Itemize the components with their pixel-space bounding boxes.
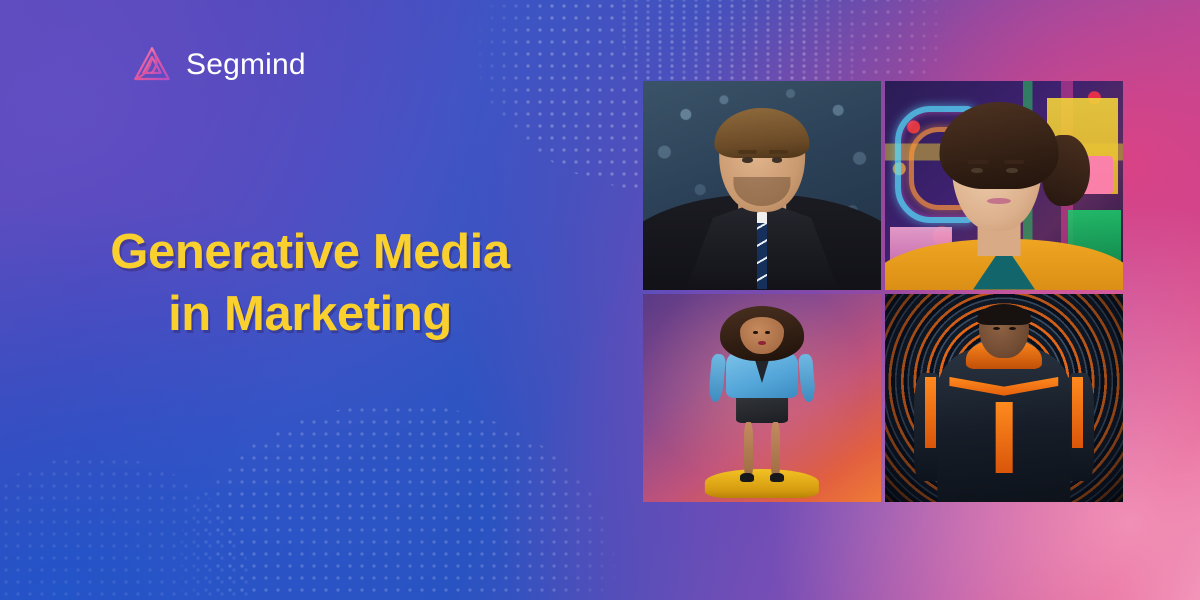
brand-wordmark: Segmind [186,50,306,80]
eyebrow-right [1004,160,1024,164]
center-stripe [996,402,1013,473]
lips [987,198,1011,204]
leg-right [771,422,780,475]
eye-left [742,157,753,162]
arm-left [708,353,726,402]
page-title: Generative Media in Marketing [0,222,620,345]
collage-tile-portrait-woman-arcade[interactable] [885,81,1123,290]
page-title-line-2: in Marketing [0,284,620,346]
shoe-right [770,473,784,482]
page-title-line-1: Generative Media [110,225,509,279]
mouth [758,341,766,345]
eye-right [1009,327,1016,330]
face [740,317,784,354]
figurine [712,306,812,489]
eyebrow-left [968,160,988,164]
black-skirt [736,394,788,423]
eye-right [772,157,783,162]
image-collage [643,81,1123,502]
arm-stripe-right [1072,377,1083,448]
leg-left [744,422,753,475]
eye-left [971,168,983,174]
collage-tile-scifi-hero-tunnel[interactable] [885,294,1123,503]
collage-tile-portrait-suited-man[interactable] [643,81,881,290]
arm-stripe-left [925,377,936,448]
eyebrow-left [738,150,757,155]
shoe-left [740,473,754,482]
segmind-triangle-knot-logo-icon [131,44,173,86]
brand-logo-lockup[interactable]: Segmind [131,44,306,86]
eyebrow-right [769,150,788,155]
collage-tile-caricature-figurine-woman[interactable] [643,294,881,503]
